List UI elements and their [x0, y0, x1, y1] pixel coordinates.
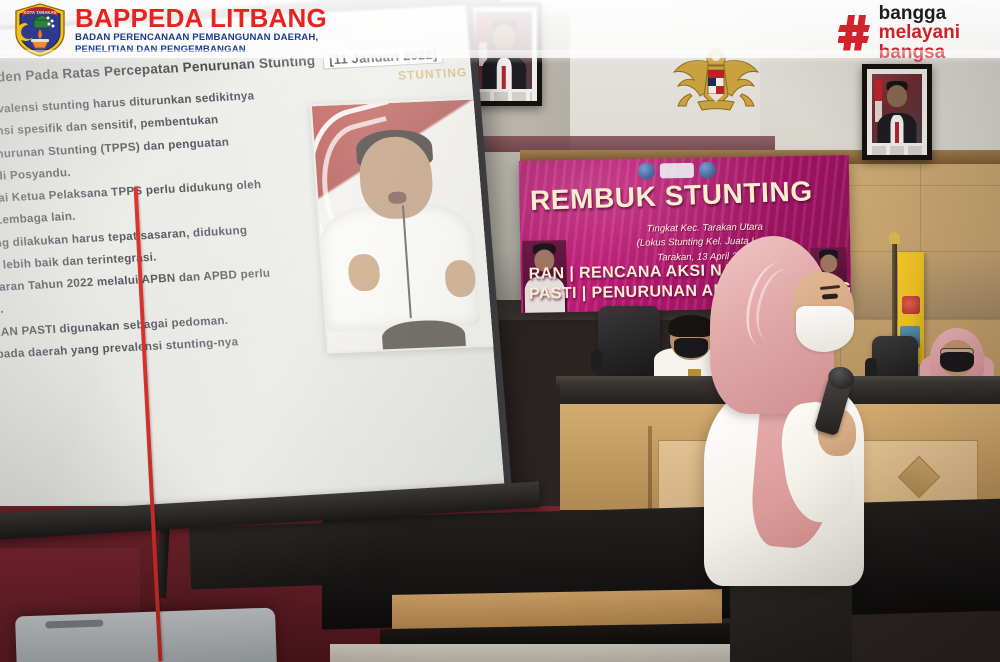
portrait-image — [872, 74, 922, 143]
projection-screen: Arahan Presiden Pada Ratas Percepatan Pe… — [0, 5, 515, 552]
portrait-head — [887, 85, 907, 107]
loudspeaker-cabinet — [189, 520, 401, 589]
svg-text:KOTA TARAKAN: KOTA TARAKAN — [24, 10, 57, 15]
banner-logo-row — [638, 161, 716, 179]
woman-speaker-with-microphone — [700, 236, 882, 662]
speaker-mouth — [388, 191, 407, 204]
floor-tile — [330, 644, 750, 662]
president-speech-video — [310, 97, 511, 354]
chair-arm — [591, 350, 603, 372]
photograph-canvas: REMBUK STUNTING Tingkat Kec. Tarakan Uta… — [0, 0, 1000, 662]
flag-emblem-icon — [902, 296, 920, 314]
portrait-tie — [502, 66, 506, 89]
face-mask-icon — [940, 352, 974, 372]
portrait-mat — [867, 69, 927, 155]
speaker-hand-left — [347, 254, 380, 292]
kota-tarakan-coat-of-arms-icon: KOTA TARAKAN — [14, 3, 66, 57]
genbest-logo-icon — [660, 163, 694, 179]
portrait-caption — [872, 146, 922, 155]
brand-lockup-left: KOTA TARAKAN BAPPEDA LITBANG BADAN PEREN… — [14, 3, 327, 57]
slogan-line1: bangga — [879, 4, 960, 23]
banner-title: REMBUK STUNTING — [529, 175, 813, 217]
portrait-tie — [895, 122, 899, 143]
portrait-caption — [476, 92, 532, 101]
header-fade — [0, 50, 1000, 64]
tarakan-logo-icon — [699, 161, 716, 178]
vice-president-portrait — [862, 64, 932, 160]
hashtag-icon — [838, 13, 872, 53]
dais-diamond-motif — [898, 456, 940, 498]
brand-text-block: BAPPEDA LITBANG BADAN PERENCANAAN PEMBAN… — [75, 5, 327, 54]
slogan-line2: melayani — [879, 23, 960, 42]
office-chair-left — [598, 306, 660, 384]
flag-finial-icon — [889, 232, 900, 244]
brand-subtitle-line1: BADAN PERENCANAAN PEMBANGUNAN DAERAH, — [75, 33, 327, 43]
bkkbn-logo-icon — [638, 163, 655, 180]
brand-title: BAPPEDA LITBANG — [75, 5, 327, 31]
laptop-screen — [15, 607, 277, 662]
face-mask-icon — [796, 306, 854, 352]
laptop-hinge — [45, 619, 103, 628]
